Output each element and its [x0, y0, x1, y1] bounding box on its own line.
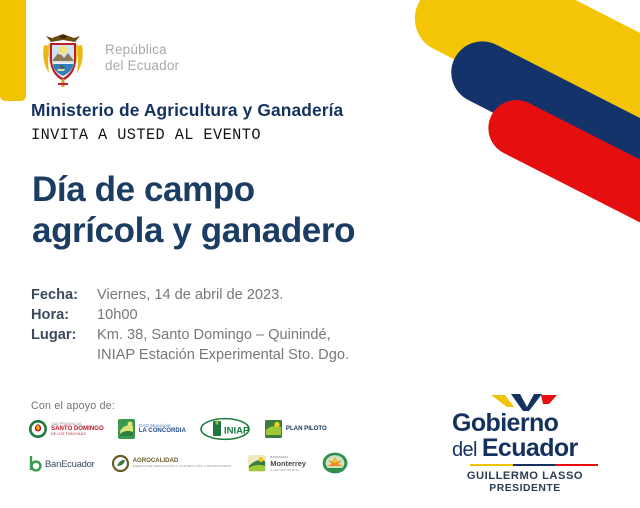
monterrey-sub: AGROINDUSTRIAL	[270, 468, 306, 472]
santo-domingo-text: GAD PROVINCIAL SANTO DOMINGO DE LOS TSÁC…	[51, 422, 104, 437]
agrocalidad-sub: AGENCIA DE REGULACIÓN Y CONTROL FITO Y Z…	[133, 464, 232, 468]
agrocalidad-logo: AGROCALIDAD AGENCIA DE REGULACIÓN Y CONT…	[111, 454, 232, 473]
la-concordia-name: LA CONCORDIA	[139, 428, 186, 435]
fecha-label: Fecha:	[31, 285, 97, 305]
detail-row-fecha: Fecha: Viernes, 14 de abril de 2023.	[31, 285, 349, 305]
santo-domingo-name: SANTO DOMINGO	[51, 426, 104, 433]
lugar-value-line2: INIAP Estación Experimental Sto. Dgo.	[97, 345, 349, 365]
ecuador-coat-of-arms-icon	[30, 25, 96, 91]
tricolor-bands-decoration	[360, 0, 640, 170]
hora-value: 10h00	[97, 305, 138, 325]
banecuador-name: BanEcuador	[45, 458, 95, 469]
fecha-value: Viernes, 14 de abril de 2023.	[97, 285, 283, 305]
plan-piloto-logo: PLAN PILOTO	[264, 419, 327, 439]
del-word: del	[452, 439, 482, 461]
lugar-label: Lugar:	[31, 325, 97, 345]
support-heading: Con el apoyo de:	[31, 400, 115, 412]
santo-domingo-sub: DE LOS TSÁCHILAS	[51, 432, 104, 436]
ministry-title: Ministerio de Agricultura y Ganadería	[31, 100, 343, 121]
event-title: Día de campo agrícola y ganadero	[32, 170, 355, 252]
event-flyer: República del Ecuador Ministerio de Agri…	[0, 0, 640, 508]
president-role: PRESIDENTE	[436, 483, 614, 494]
ecuador-word: Ecuador	[482, 434, 578, 462]
institutional-header: República del Ecuador	[30, 25, 179, 91]
hora-label: Hora:	[31, 305, 97, 325]
lugar-value: Km. 38, Santo Domingo – Quinindé,	[97, 325, 331, 345]
detail-row-lugar: Lugar: Km. 38, Santo Domingo – Quinindé,	[31, 325, 349, 345]
santo-domingo-logo: GAD PROVINCIAL SANTO DOMINGO DE LOS TSÁC…	[28, 419, 104, 439]
iniap-logo: INIAP	[199, 417, 251, 441]
banecuador-logo: BanEcuador	[28, 455, 95, 472]
monterrey-logo: BANANERA Monterrey AGROINDUSTRIAL	[247, 454, 306, 473]
invitation-line: INVITA A USTED AL EVENTO	[31, 126, 261, 144]
left-yellow-accent-bar	[0, 0, 26, 101]
president-name: GUILLERMO LASSO	[436, 469, 614, 483]
monterrey-name: Monterrey	[270, 459, 306, 468]
gad-municipal-la-concordia-logo: GAD Municipal LA CONCORDIA	[117, 418, 186, 440]
plan-piloto-name: PLAN PILOTO	[286, 426, 327, 432]
republica-label: República del Ecuador	[105, 42, 179, 73]
government-logo: Gobierno del Ecuador GUILLERMO LASSO PRE…	[436, 392, 614, 494]
detail-row-hora: Hora: 10h00	[31, 305, 349, 325]
event-details: Fecha: Viernes, 14 de abril de 2023. Hor…	[31, 285, 349, 366]
tricolor-rule	[470, 464, 598, 467]
emblem-circular-logo	[322, 452, 348, 474]
del-ecuador-line: del Ecuador	[436, 436, 614, 462]
sponsor-logos: GAD PROVINCIAL SANTO DOMINGO DE LOS TSÁC…	[28, 414, 373, 478]
gobierno-line: Gobierno	[436, 411, 614, 436]
svg-text:INIAP: INIAP	[224, 426, 250, 437]
